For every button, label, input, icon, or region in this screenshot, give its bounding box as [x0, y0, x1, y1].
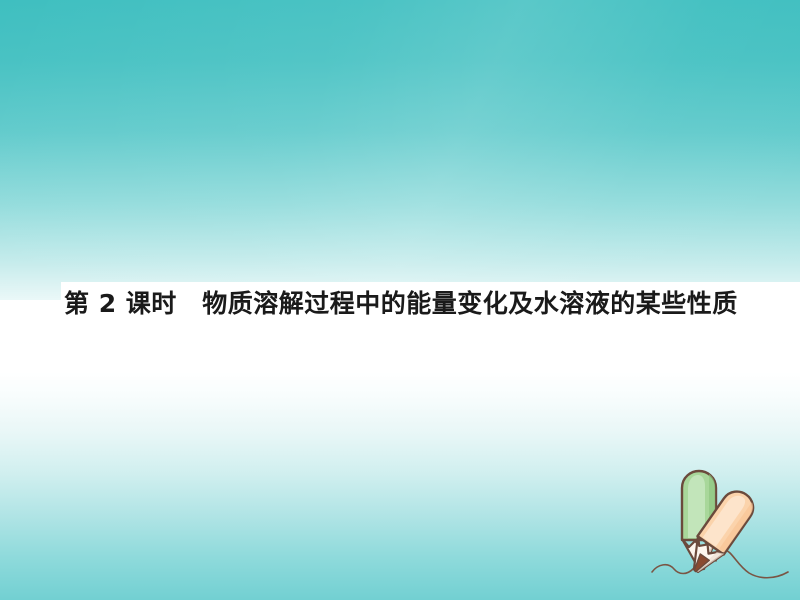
- pencils-decoration: [648, 468, 800, 600]
- background-sheen: [0, 0, 800, 330]
- presentation-slide: 第 2 课时 物质溶解过程中的能量变化及水溶液的某些性质: [0, 0, 800, 600]
- scribble-line-right: [716, 550, 788, 578]
- scribble-line-left: [652, 562, 700, 574]
- page-title: 第 2 课时 物质溶解过程中的能量变化及水溶液的某些性质: [64, 285, 738, 323]
